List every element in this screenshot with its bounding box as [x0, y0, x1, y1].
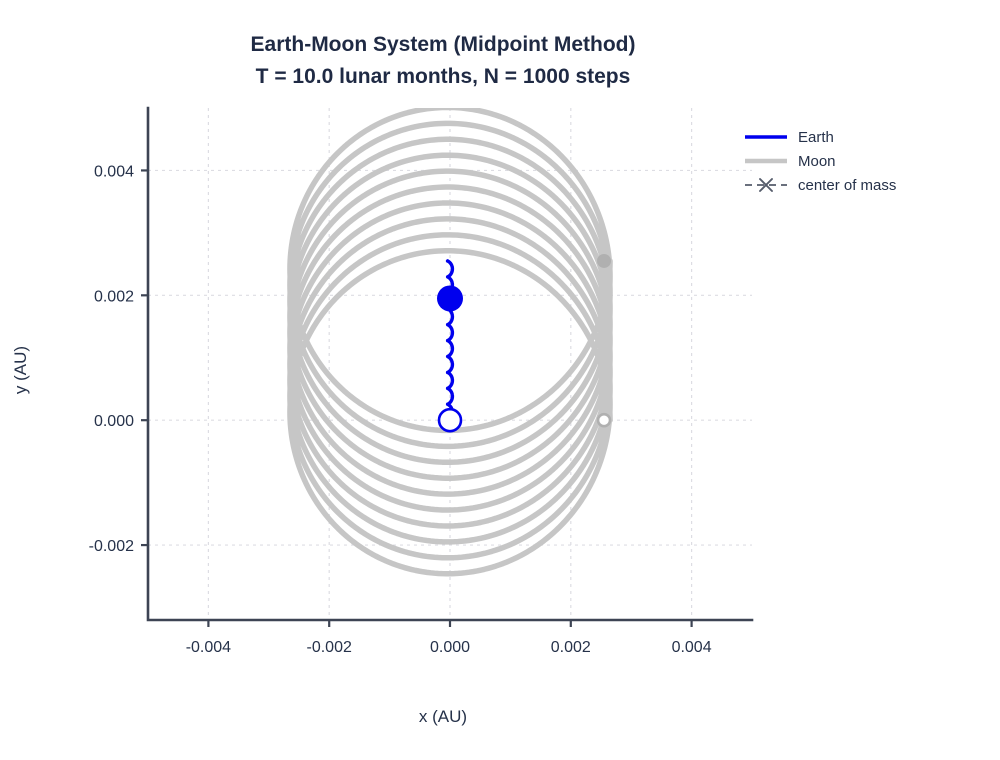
y-tick-label: 0.002	[94, 288, 134, 305]
x-axis-label: x (AU)	[419, 707, 467, 726]
marker-moon-start	[598, 414, 610, 426]
x-tick-label: -0.004	[186, 639, 231, 656]
y-tick-label: 0.000	[94, 413, 134, 430]
legend-label-moon: Moon	[798, 153, 836, 170]
x-tick-label: -0.002	[307, 639, 352, 656]
chart-title: Earth-Moon System (Midpoint Method)	[251, 33, 636, 56]
y-tick-label: 0.004	[94, 163, 134, 180]
x-tick-label: 0.002	[551, 639, 591, 656]
marker-earth-start	[439, 409, 461, 431]
y-tick-label: -0.002	[89, 538, 134, 555]
marker-earth-current	[437, 285, 463, 311]
marker-moon-current	[597, 254, 611, 268]
legend-label-earth: Earth	[798, 129, 834, 146]
y-axis-label: y (AU)	[11, 346, 30, 394]
x-tick-label: 0.000	[430, 639, 470, 656]
earth-moon-orbit-figure: Earth-Moon System (Midpoint Method) T = …	[0, 0, 1000, 760]
legend-label-center-of-mass: center of mass	[798, 177, 896, 194]
chart-subtitle: T = 10.0 lunar months, N = 1000 steps	[256, 65, 631, 88]
x-tick-label: 0.004	[672, 639, 712, 656]
